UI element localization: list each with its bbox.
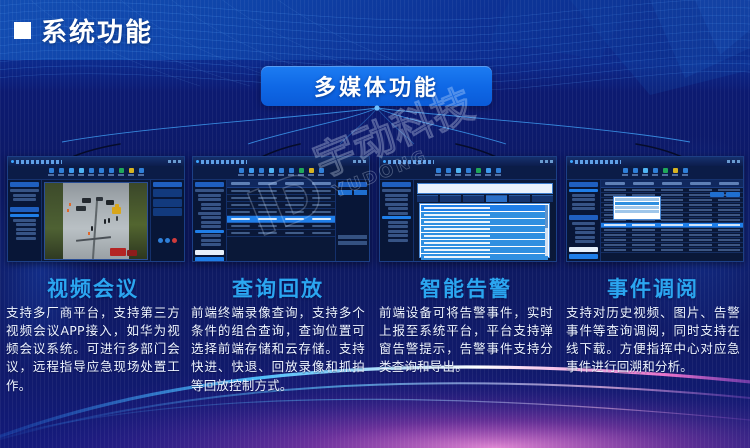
tree-item[interactable] [201,225,221,228]
records-table[interactable] [227,180,335,262]
flooded-road-video-frame [44,182,148,260]
feature-title: 智能告警 [375,279,557,300]
panel-titlebar [567,157,743,166]
sidebar-header [10,207,39,212]
panel-titlebar [380,157,556,166]
toolbar-icon[interactable] [682,168,688,177]
panel-toolbar[interactable] [193,166,369,180]
close-icon[interactable] [178,160,181,163]
column-header [258,182,277,185]
toolbar-icon[interactable] [288,168,294,177]
list-item-selected[interactable] [421,205,548,211]
tree-item[interactable] [575,240,595,243]
toolbar-icon[interactable] [58,168,64,177]
minimize-icon[interactable] [168,160,171,163]
table-row[interactable] [601,248,743,253]
event-table[interactable] [601,180,743,262]
panel-body [193,180,369,262]
table-row[interactable] [227,195,335,202]
filter-dropdown-popup[interactable] [613,196,661,220]
panel-toolbar[interactable] [8,166,184,180]
video-red-vehicle [110,248,126,256]
minimize-icon[interactable] [727,160,730,163]
sidebar-header [569,182,598,187]
video-vehicle [76,206,86,211]
video-conference-screenshot[interactable] [7,156,185,262]
toolbar-icon[interactable] [455,168,461,177]
sidebar-header [153,182,182,187]
toolbar-icon[interactable] [48,168,54,177]
tab[interactable] [509,195,530,202]
tree-item-selected[interactable] [382,216,411,219]
sidebar-header [195,182,224,187]
toolbar-icon[interactable] [138,168,144,177]
list-item[interactable] [421,212,548,218]
feature-column-smart-alarm: 智能告警 前端设备可将告警事件，实时上报至系统平台，平台支持弹窗告警提示，告警事… [375,279,557,377]
toolbar-icon[interactable] [248,168,254,177]
video-worker [91,226,93,231]
sidebar-header [10,182,39,187]
list-item[interactable] [421,233,548,239]
feature-title: 视频会议 [2,279,184,300]
toolbar-icon[interactable] [118,168,124,177]
tree-item[interactable] [16,228,36,231]
sidebar-header [338,182,367,187]
export-button[interactable] [726,192,740,197]
tree-item[interactable] [388,221,408,224]
toolbar-icon[interactable] [642,168,648,177]
video-roadside-right [127,183,147,259]
toolbar-icon[interactable] [632,168,638,177]
camera-icon[interactable] [165,238,170,243]
window-controls[interactable] [168,160,181,163]
video-vehicle [82,198,91,203]
list-item[interactable] [421,226,548,232]
column-header [285,182,304,185]
participant-item[interactable] [153,208,182,216]
tree-item[interactable] [10,189,39,192]
tree-item[interactable] [388,239,408,242]
toolbar-icon[interactable] [652,168,658,177]
panel-body [380,180,556,262]
window-controls[interactable] [353,160,366,163]
toolbar-icon[interactable] [78,168,84,177]
tab-active[interactable] [486,195,507,202]
tree-item[interactable] [201,203,221,206]
toolbar-icon[interactable] [495,168,501,177]
video-red-vehicle [127,250,137,256]
list-item[interactable] [421,240,548,246]
table-row-selected[interactable] [227,216,335,223]
toolbar-icon[interactable] [88,168,94,177]
video-traffic-cone [88,232,90,235]
tab[interactable] [463,195,484,202]
toolbar-icon[interactable] [445,168,451,177]
maximize-icon[interactable] [173,160,176,163]
close-icon[interactable] [550,160,553,163]
column-header [690,182,710,185]
feature-body: 前端设备可将告警事件，实时上报至系统平台，平台支持弹窗告警提示，告警事件支持分类… [375,304,557,377]
alarm-tree-sidebar[interactable] [380,180,414,262]
search-input[interactable] [195,250,224,255]
query-button[interactable] [569,254,598,259]
video-roadside-left [45,183,65,259]
tree-item[interactable] [385,203,408,206]
alarm-dropdown-list[interactable] [419,203,550,258]
tree-item[interactable] [198,198,221,201]
feature-column-event-review: 事件调阅 支持对历史视频、图片、告警事件等查询调阅，同时支持在线下载。方便指挥中… [562,279,744,377]
tree-item[interactable] [13,198,36,201]
video-excavator-arm [115,204,119,209]
event-review-screenshot[interactable] [566,156,744,262]
tree-item[interactable] [13,194,36,197]
dropdown-option[interactable] [615,198,659,201]
video-vehicle [96,197,103,201]
feature-column-query-playback: 查询回放 前端终端录像查询，支持多个条件的组合查询，查询位置可选择前端存储和云存… [187,279,369,395]
panel-toolbar[interactable] [380,166,556,180]
tree-item[interactable] [385,198,408,201]
tree-item[interactable] [388,212,408,215]
toolbar-icon[interactable] [435,168,441,177]
tab[interactable] [440,195,461,202]
tab[interactable] [417,195,438,202]
feature-body: 支持多厂商平台，支持第三方视频会议APP接入，如华为视频会议系统。可进行多部门会… [2,304,184,395]
toolbar-icon[interactable] [318,168,324,177]
toolbar-icon[interactable] [238,168,244,177]
tree-item[interactable] [575,236,595,239]
dropdown-option-selected[interactable] [615,202,659,205]
sidebar-header [569,215,598,220]
toolbar-icon[interactable] [298,168,304,177]
window-controls[interactable] [727,160,740,163]
column-header [312,182,331,185]
column-header [719,182,739,185]
toolbar-icon[interactable] [268,168,274,177]
toolbar-icon[interactable] [475,168,481,177]
sidebar-header [382,182,411,187]
column-header [605,182,625,185]
tree-item-selected[interactable] [569,189,598,192]
table-header [601,180,743,188]
video-worker [108,218,110,223]
preview-sidebar[interactable] [335,180,369,262]
feature-body: 支持对历史视频、图片、告警事件等查询调阅，同时支持在线下载。方便指挥中心对应急事… [562,304,744,377]
tree-item-selected[interactable] [10,214,39,217]
video-traffic-cone [67,209,69,212]
toolbar-icon[interactable] [128,168,134,177]
query-playback-screenshot[interactable] [192,156,370,262]
info-line [338,241,367,245]
tree-item[interactable] [572,198,595,201]
feature-title: 事件调阅 [562,279,744,300]
video-worker [104,219,106,224]
tree-item[interactable] [572,222,595,225]
hangup-icon[interactable] [172,238,177,243]
download-button[interactable] [710,192,724,197]
play-button[interactable] [338,190,352,195]
tree-item[interactable] [388,230,408,233]
action-buttons[interactable] [710,192,740,197]
app-logo-icon [11,160,14,163]
tree-item[interactable] [572,194,595,197]
app-logo-icon [383,160,386,163]
tree-item[interactable] [201,243,221,246]
table-row[interactable] [227,202,335,209]
panel-body [8,180,184,262]
window-controls[interactable] [540,160,553,163]
square-bullet-icon [14,22,31,39]
video-traffic-cone [69,203,71,206]
tree-item[interactable] [16,232,36,235]
column-header [231,182,250,185]
device-tree-sidebar[interactable] [8,180,42,262]
toolbar-icon[interactable] [662,168,668,177]
tree-item[interactable] [198,212,221,215]
page-title-label: 系统功能 [41,12,153,49]
video-vehicle [106,200,114,205]
catalog-sidebar[interactable] [567,180,601,262]
device-tree-sidebar[interactable] [193,180,227,262]
toolbar-icon[interactable] [465,168,471,177]
toolbar-icon[interactable] [68,168,74,177]
tree-item[interactable] [388,225,408,228]
alarm-tabs[interactable] [417,195,553,201]
maximize-icon[interactable] [545,160,548,163]
participant-item[interactable] [153,199,182,207]
feature-column-video-conference: 视频会议 支持多厂商平台，支持第三方视频会议APP接入，如华为视频会议系统。可进… [2,279,184,395]
info-line [338,235,367,239]
toolbar-icon[interactable] [108,168,114,177]
tree-item[interactable] [572,207,595,210]
tree-item[interactable] [572,203,595,206]
panel-title-text [575,160,621,164]
minimize-icon[interactable] [540,160,543,163]
panel-body [567,180,743,262]
dropdown-option[interactable] [615,206,659,209]
panel-title-text [201,160,247,164]
toolbar-icon[interactable] [622,168,628,177]
tree-item[interactable] [16,237,36,240]
tree-item[interactable] [195,189,224,192]
tree-item[interactable] [201,221,221,224]
video-viewport[interactable] [42,180,150,262]
tree-item[interactable] [201,239,221,242]
toolbar-icon[interactable] [258,168,264,177]
close-icon[interactable] [737,160,740,163]
tree-item[interactable] [382,189,411,192]
tree-item[interactable] [198,194,221,197]
slide-canvas: 系统功能 多媒体功能 [0,0,750,448]
section-banner-label: 多媒体功能 [314,70,439,102]
tree-item[interactable] [13,219,36,222]
maximize-icon[interactable] [732,160,735,163]
toolbar-icon[interactable] [485,168,491,177]
tree-item[interactable] [575,227,595,230]
panel-titlebar [193,157,369,166]
smart-alarm-screenshot[interactable] [379,156,557,262]
panel-toolbar[interactable] [567,166,743,180]
list-item[interactable] [421,247,548,253]
minimize-icon[interactable] [353,160,356,163]
maximize-icon[interactable] [358,160,361,163]
toolbar-icon[interactable] [672,168,678,177]
table-row[interactable] [227,188,335,195]
table-row[interactable] [227,209,335,216]
tree-item-selected[interactable] [195,230,224,233]
toolbar-icon[interactable] [98,168,104,177]
feature-body: 前端终端录像查询，支持多个条件的组合查询，查询位置可选择前端存储和云存储。支持快… [187,304,369,395]
panel-title-text [16,160,62,164]
toolbar-icon[interactable] [308,168,314,177]
app-logo-icon [570,160,573,163]
toolbar-icon[interactable] [278,168,284,177]
close-icon[interactable] [363,160,366,163]
tab[interactable] [532,195,553,202]
column-header [662,182,682,185]
tree-item[interactable] [575,231,595,234]
search-input[interactable] [417,183,553,194]
mic-icon[interactable] [158,238,163,243]
tree-item[interactable] [385,194,408,197]
scrollbar[interactable] [545,205,548,256]
search-input[interactable] [569,247,598,252]
tree-item[interactable] [201,207,221,210]
participant-item[interactable] [153,189,182,197]
export-button[interactable] [354,190,368,195]
column-header [633,182,653,185]
list-item[interactable] [421,219,548,225]
tree-item[interactable] [388,234,408,237]
tree-item[interactable] [201,216,221,219]
table-header [227,180,335,188]
panel-titlebar [8,157,184,166]
panel-title-text [388,160,434,164]
alarm-list-area[interactable] [414,180,556,262]
tree-item[interactable] [16,223,36,226]
dropdown-option[interactable] [615,210,659,213]
table-row[interactable] [227,230,335,237]
table-row[interactable] [227,223,335,230]
tree-item[interactable] [201,234,221,237]
participants-sidebar[interactable] [150,180,184,262]
page-title: 系统功能 [14,12,153,49]
feature-title: 查询回放 [187,279,369,300]
app-logo-icon [196,160,199,163]
tree-item[interactable] [388,207,408,210]
list-item[interactable] [421,254,548,260]
